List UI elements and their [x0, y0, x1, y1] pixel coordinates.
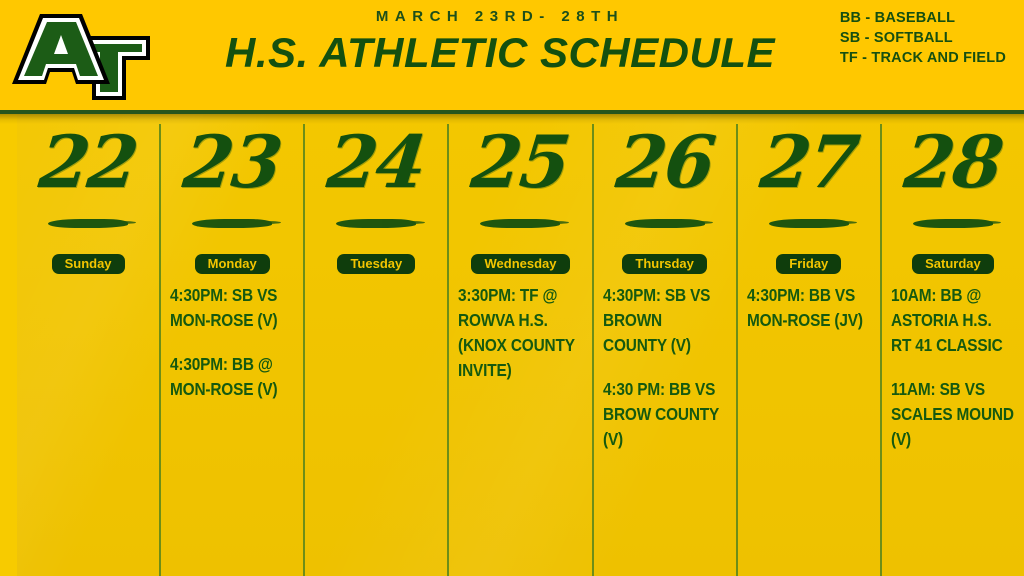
event-item: 4:30PM: SB VS MON-ROSE (V): [170, 283, 294, 333]
event-item: 4:30PM: BB @ MON-ROSE (V): [170, 352, 294, 402]
legend-item-sb: SB - SOFTBALL: [840, 28, 1006, 48]
week-grid: 22 Sunday 23 Monday 4:30PM: SB VS MON-RO…: [17, 124, 1024, 576]
school-logo: [8, 8, 158, 103]
weekday-label-saturday: Saturday: [912, 254, 994, 274]
weekday-label-friday: Friday: [776, 254, 841, 274]
left-edge-strip: [0, 113, 17, 576]
brush-underline-icon: [48, 219, 128, 228]
weekday-pill-wrap-sunday: Sunday: [23, 254, 153, 274]
page-title: H.S. ATHLETIC SCHEDULE: [180, 29, 820, 77]
sport-abbreviation-legend: BB - BASEBALL SB - SOFTBALL TF - TRACK A…: [840, 8, 1006, 68]
weekday-pill-wrap-wednesday: Wednesday: [455, 254, 585, 274]
weekday-label-monday: Monday: [195, 254, 270, 274]
event-list-thursday: 4:30PM: SB VS BROWN COUNTY (V) 4:30 PM: …: [600, 283, 730, 452]
brush-underline-icon: [625, 219, 705, 228]
weekday-label-sunday: Sunday: [52, 254, 125, 274]
weekday-pill-wrap-monday: Monday: [167, 254, 297, 274]
weekday-label-thursday: Thursday: [622, 254, 707, 274]
date-range-label: MARCH 23RD- 28TH: [180, 8, 820, 25]
legend-item-bb: BB - BASEBALL: [840, 8, 1006, 28]
event-item: 4:30PM: BB VS MON-ROSE (JV): [747, 283, 871, 333]
day-column-wednesday: 25 Wednesday 3:30PM: TF @ ROWVA H.S. (KN…: [449, 124, 593, 576]
day-column-saturday: 28 Saturday 10AM: BB @ ASTORIA H.S. RT 4…: [882, 124, 1024, 576]
day-column-thursday: 26 Thursday 4:30PM: SB VS BROWN COUNTY (…: [594, 124, 738, 576]
athletic-schedule-poster: MARCH 23RD- 28TH H.S. ATHLETIC SCHEDULE …: [0, 0, 1024, 576]
day-column-tuesday: 24 Tuesday: [305, 124, 449, 576]
brush-underline-icon: [913, 219, 993, 228]
brush-underline-icon: [480, 219, 560, 228]
brush-underline-icon: [336, 219, 416, 228]
day-column-monday: 23 Monday 4:30PM: SB VS MON-ROSE (V) 4:3…: [161, 124, 305, 576]
event-list-wednesday: 3:30PM: TF @ ROWVA H.S. (KNOX COUNTY INV…: [455, 283, 585, 383]
brush-underline-icon: [192, 219, 272, 228]
day-column-friday: 27 Friday 4:30PM: BB VS MON-ROSE (JV): [738, 124, 882, 576]
weekday-label-tuesday: Tuesday: [337, 254, 415, 274]
event-item: 11AM: SB VS SCALES MOUND (V): [891, 377, 1015, 452]
event-list-saturday: 10AM: BB @ ASTORIA H.S. RT 41 CLASSIC 11…: [888, 283, 1018, 452]
poster-header: MARCH 23RD- 28TH H.S. ATHLETIC SCHEDULE …: [0, 0, 1024, 110]
event-item: 3:30PM: TF @ ROWVA H.S. (KNOX COUNTY INV…: [458, 283, 582, 383]
weekday-label-wednesday: Wednesday: [471, 254, 569, 274]
legend-item-tf: TF - TRACK AND FIELD: [840, 48, 1006, 68]
day-column-sunday: 22 Sunday: [17, 124, 161, 576]
event-list-friday: 4:30PM: BB VS MON-ROSE (JV): [744, 283, 874, 333]
weekday-pill-wrap-thursday: Thursday: [600, 254, 730, 274]
event-item: 4:30PM: SB VS BROWN COUNTY (V): [603, 283, 727, 358]
event-list-monday: 4:30PM: SB VS MON-ROSE (V) 4:30PM: BB @ …: [167, 283, 297, 402]
header-title-block: MARCH 23RD- 28TH H.S. ATHLETIC SCHEDULE: [180, 8, 820, 77]
weekday-pill-wrap-tuesday: Tuesday: [311, 254, 441, 274]
weekday-pill-wrap-saturday: Saturday: [888, 254, 1018, 274]
brush-underline-icon: [769, 219, 849, 228]
event-item: 4:30 PM: BB VS BROW COUNTY (V): [603, 377, 727, 452]
weekday-pill-wrap-friday: Friday: [744, 254, 874, 274]
event-item: 10AM: BB @ ASTORIA H.S. RT 41 CLASSIC: [891, 283, 1015, 358]
